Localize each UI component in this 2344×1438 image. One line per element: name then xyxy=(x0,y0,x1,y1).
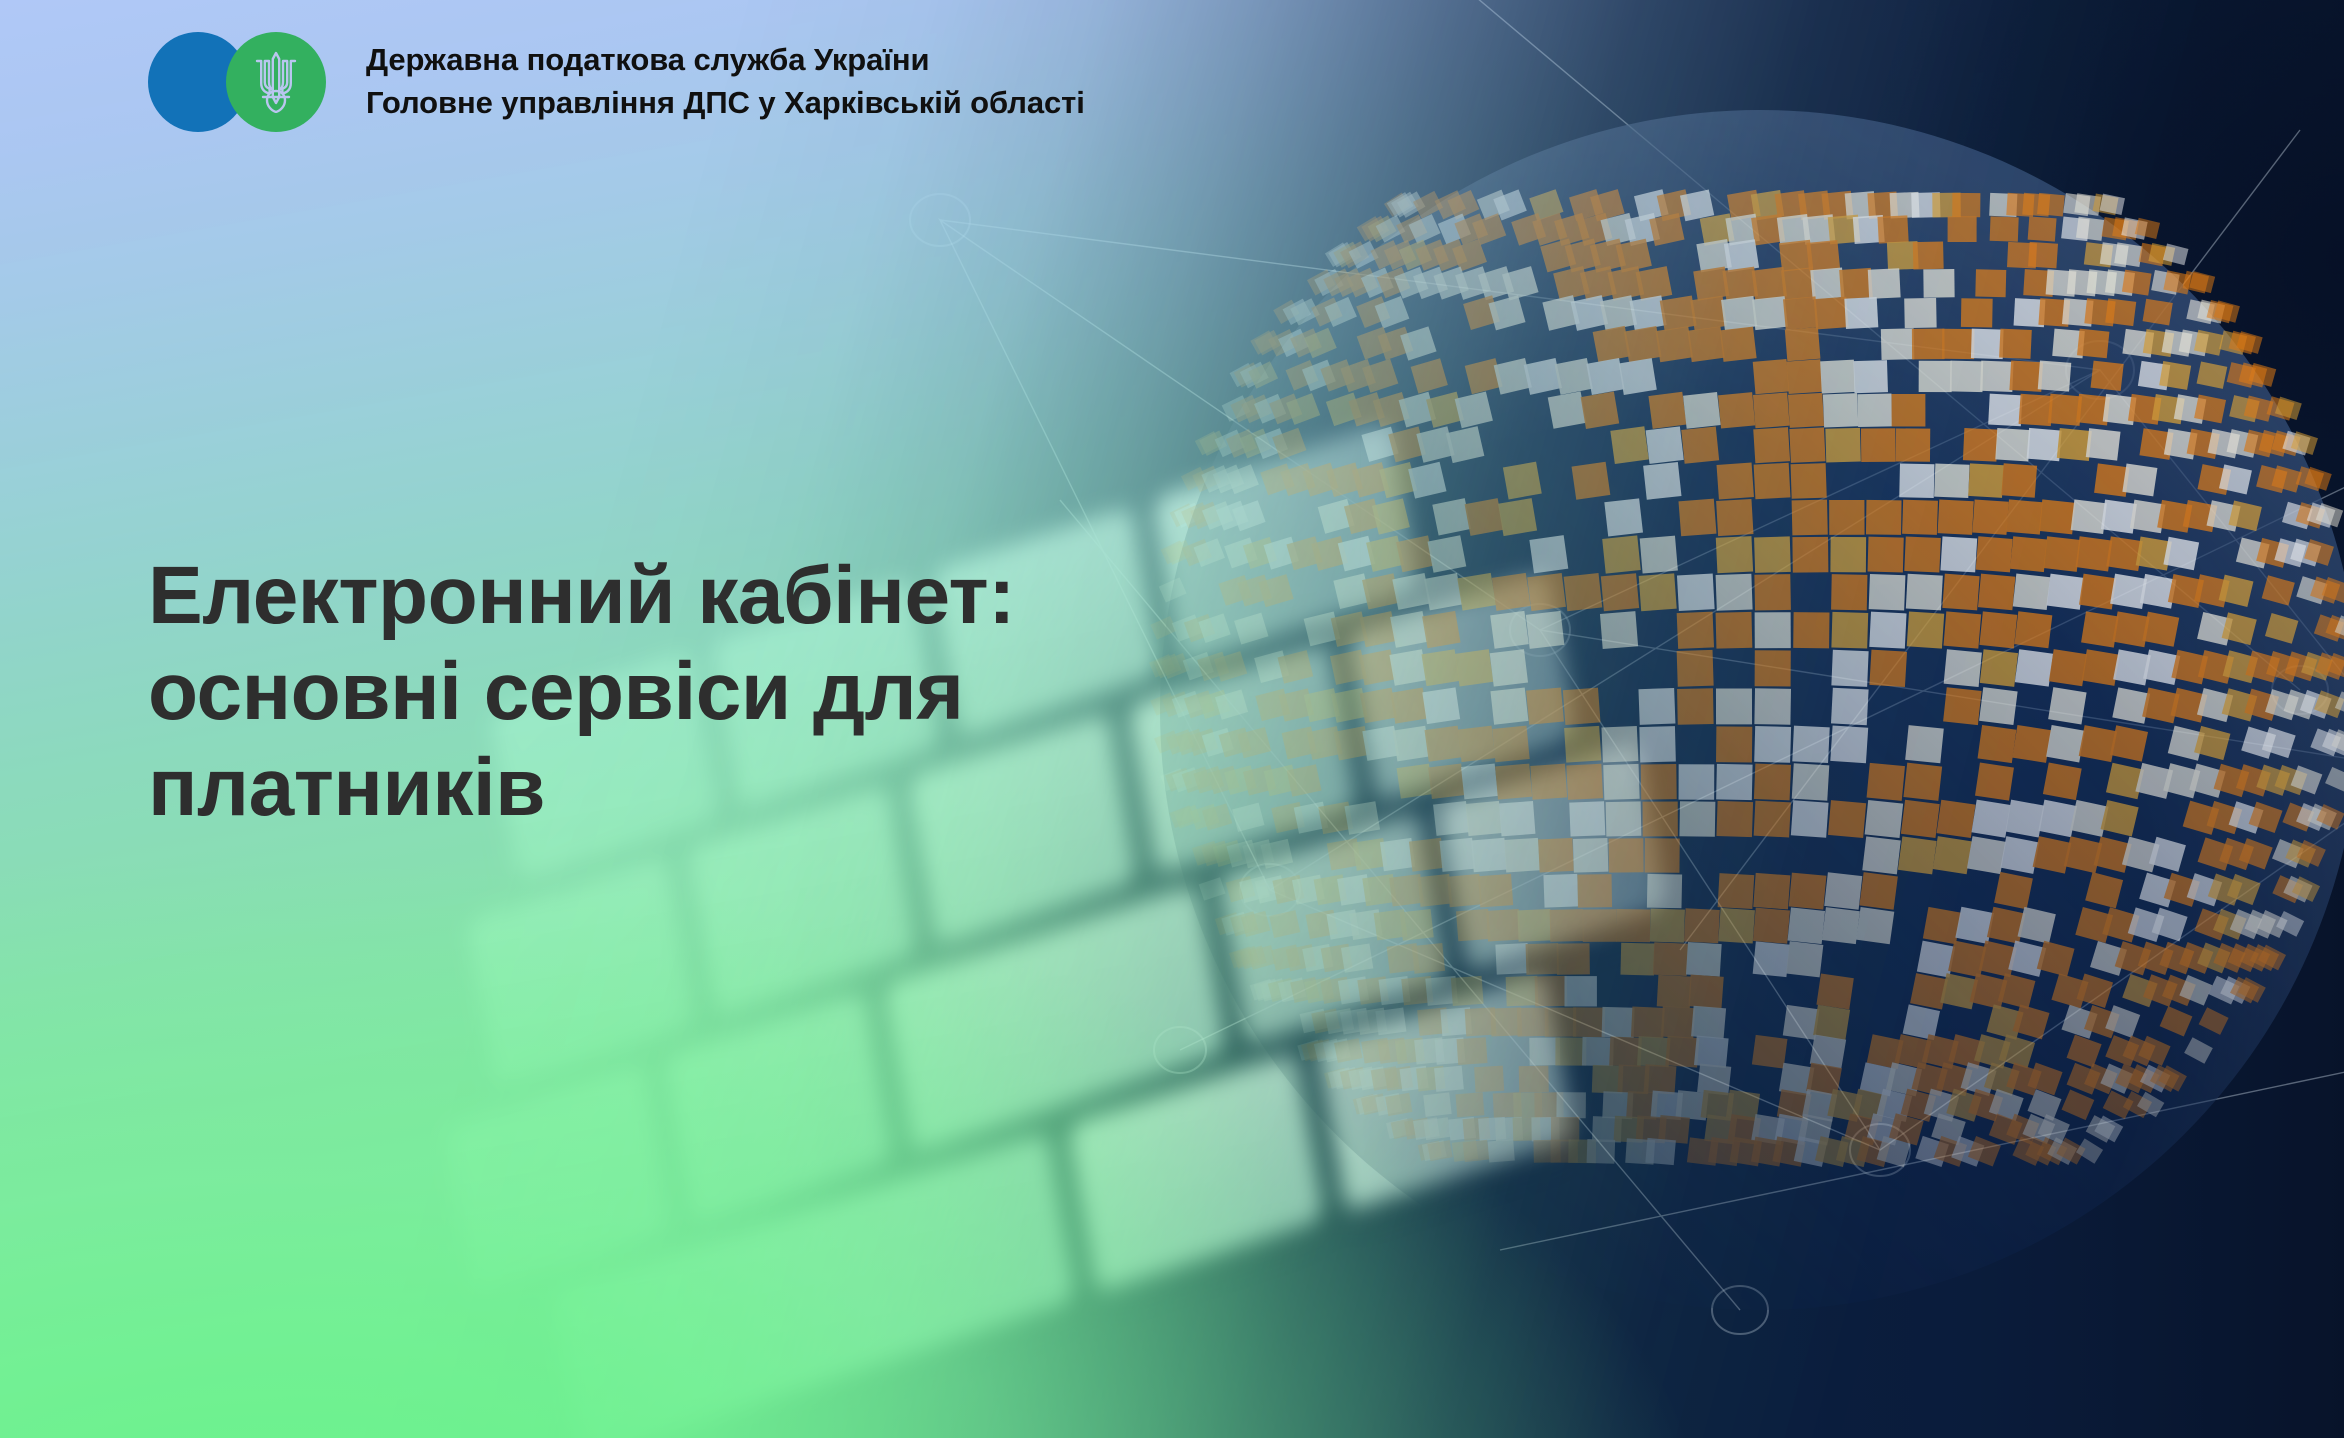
page-title: Електронний кабінет: основні сервіси для… xyxy=(148,548,1208,836)
agency-logo: Державна податкова служба України Головн… xyxy=(148,30,1085,134)
page-title-line-2: основні сервіси для xyxy=(148,644,1208,740)
page-title-line-3: платників xyxy=(148,740,1208,836)
organization-name: Державна податкова служба України Головн… xyxy=(366,39,1085,125)
banner-root: Державна податкова служба України Головн… xyxy=(0,0,2344,1438)
green-circle-icon xyxy=(226,32,326,132)
ukrainian-trident-tryzub-icon xyxy=(251,51,301,113)
page-title-line-1: Електронний кабінет: xyxy=(148,548,1208,644)
logo-marks xyxy=(148,30,348,134)
organization-line-2: Головне управління ДПС у Харківській обл… xyxy=(366,82,1085,125)
organization-line-1: Державна податкова служба України xyxy=(366,39,1085,82)
